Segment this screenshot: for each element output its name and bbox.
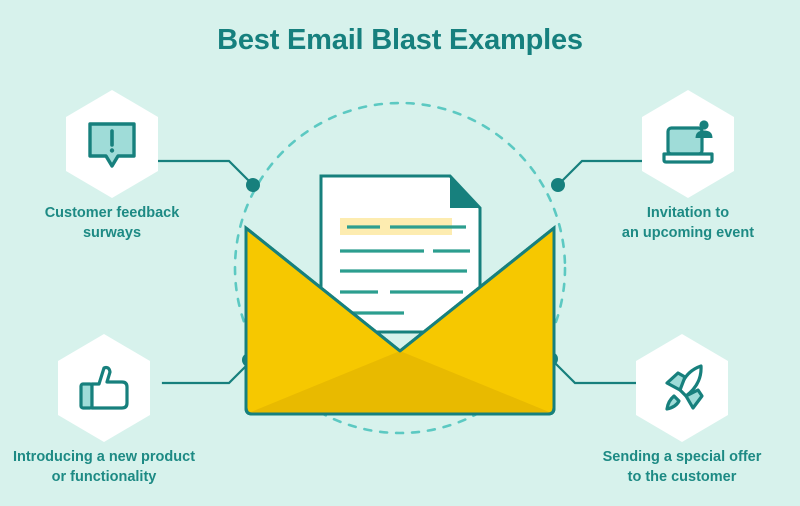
- hexagon-badge-new-product: [54, 332, 154, 444]
- node-invitation-event[interactable]: Invitation to an upcoming event: [588, 88, 788, 243]
- label-line-2: or functionality: [52, 469, 157, 485]
- laptop-person-icon: [660, 116, 716, 172]
- node-special-offer[interactable]: Sending a special offer to the customer: [582, 332, 782, 487]
- rocket-icon: [654, 360, 710, 416]
- label-line-2: to the customer: [628, 469, 737, 485]
- node-label-special-offer: Sending a special offer to the customer: [582, 448, 782, 487]
- node-new-product[interactable]: Introducing a new product or functionali…: [4, 332, 204, 487]
- label-line-2: an upcoming event: [622, 225, 754, 241]
- label-line-1: Invitation to: [647, 205, 729, 221]
- label-line-1: Sending a special offer: [603, 449, 762, 465]
- label-line-1: Customer feedback: [45, 205, 180, 221]
- hexagon-badge-customer-feedback: [62, 88, 162, 200]
- envelope-illustration: [218, 96, 582, 436]
- speech-bubble-exclamation-icon: [84, 116, 140, 172]
- node-label-customer-feedback: Customer feedback surways: [12, 204, 212, 243]
- label-line-2: surways: [83, 225, 141, 241]
- thumbs-up-icon: [76, 360, 132, 416]
- node-label-new-product: Introducing a new product or functionali…: [4, 448, 204, 487]
- hexagon-badge-special-offer: [632, 332, 732, 444]
- node-customer-feedback[interactable]: Customer feedback surways: [12, 88, 212, 243]
- infographic-canvas: Best Email Blast Examples: [0, 0, 800, 506]
- hexagon-badge-invitation-event: [638, 88, 738, 200]
- node-label-invitation-event: Invitation to an upcoming event: [588, 204, 788, 243]
- label-line-1: Introducing a new product: [13, 449, 195, 465]
- page-title: Best Email Blast Examples: [0, 24, 800, 57]
